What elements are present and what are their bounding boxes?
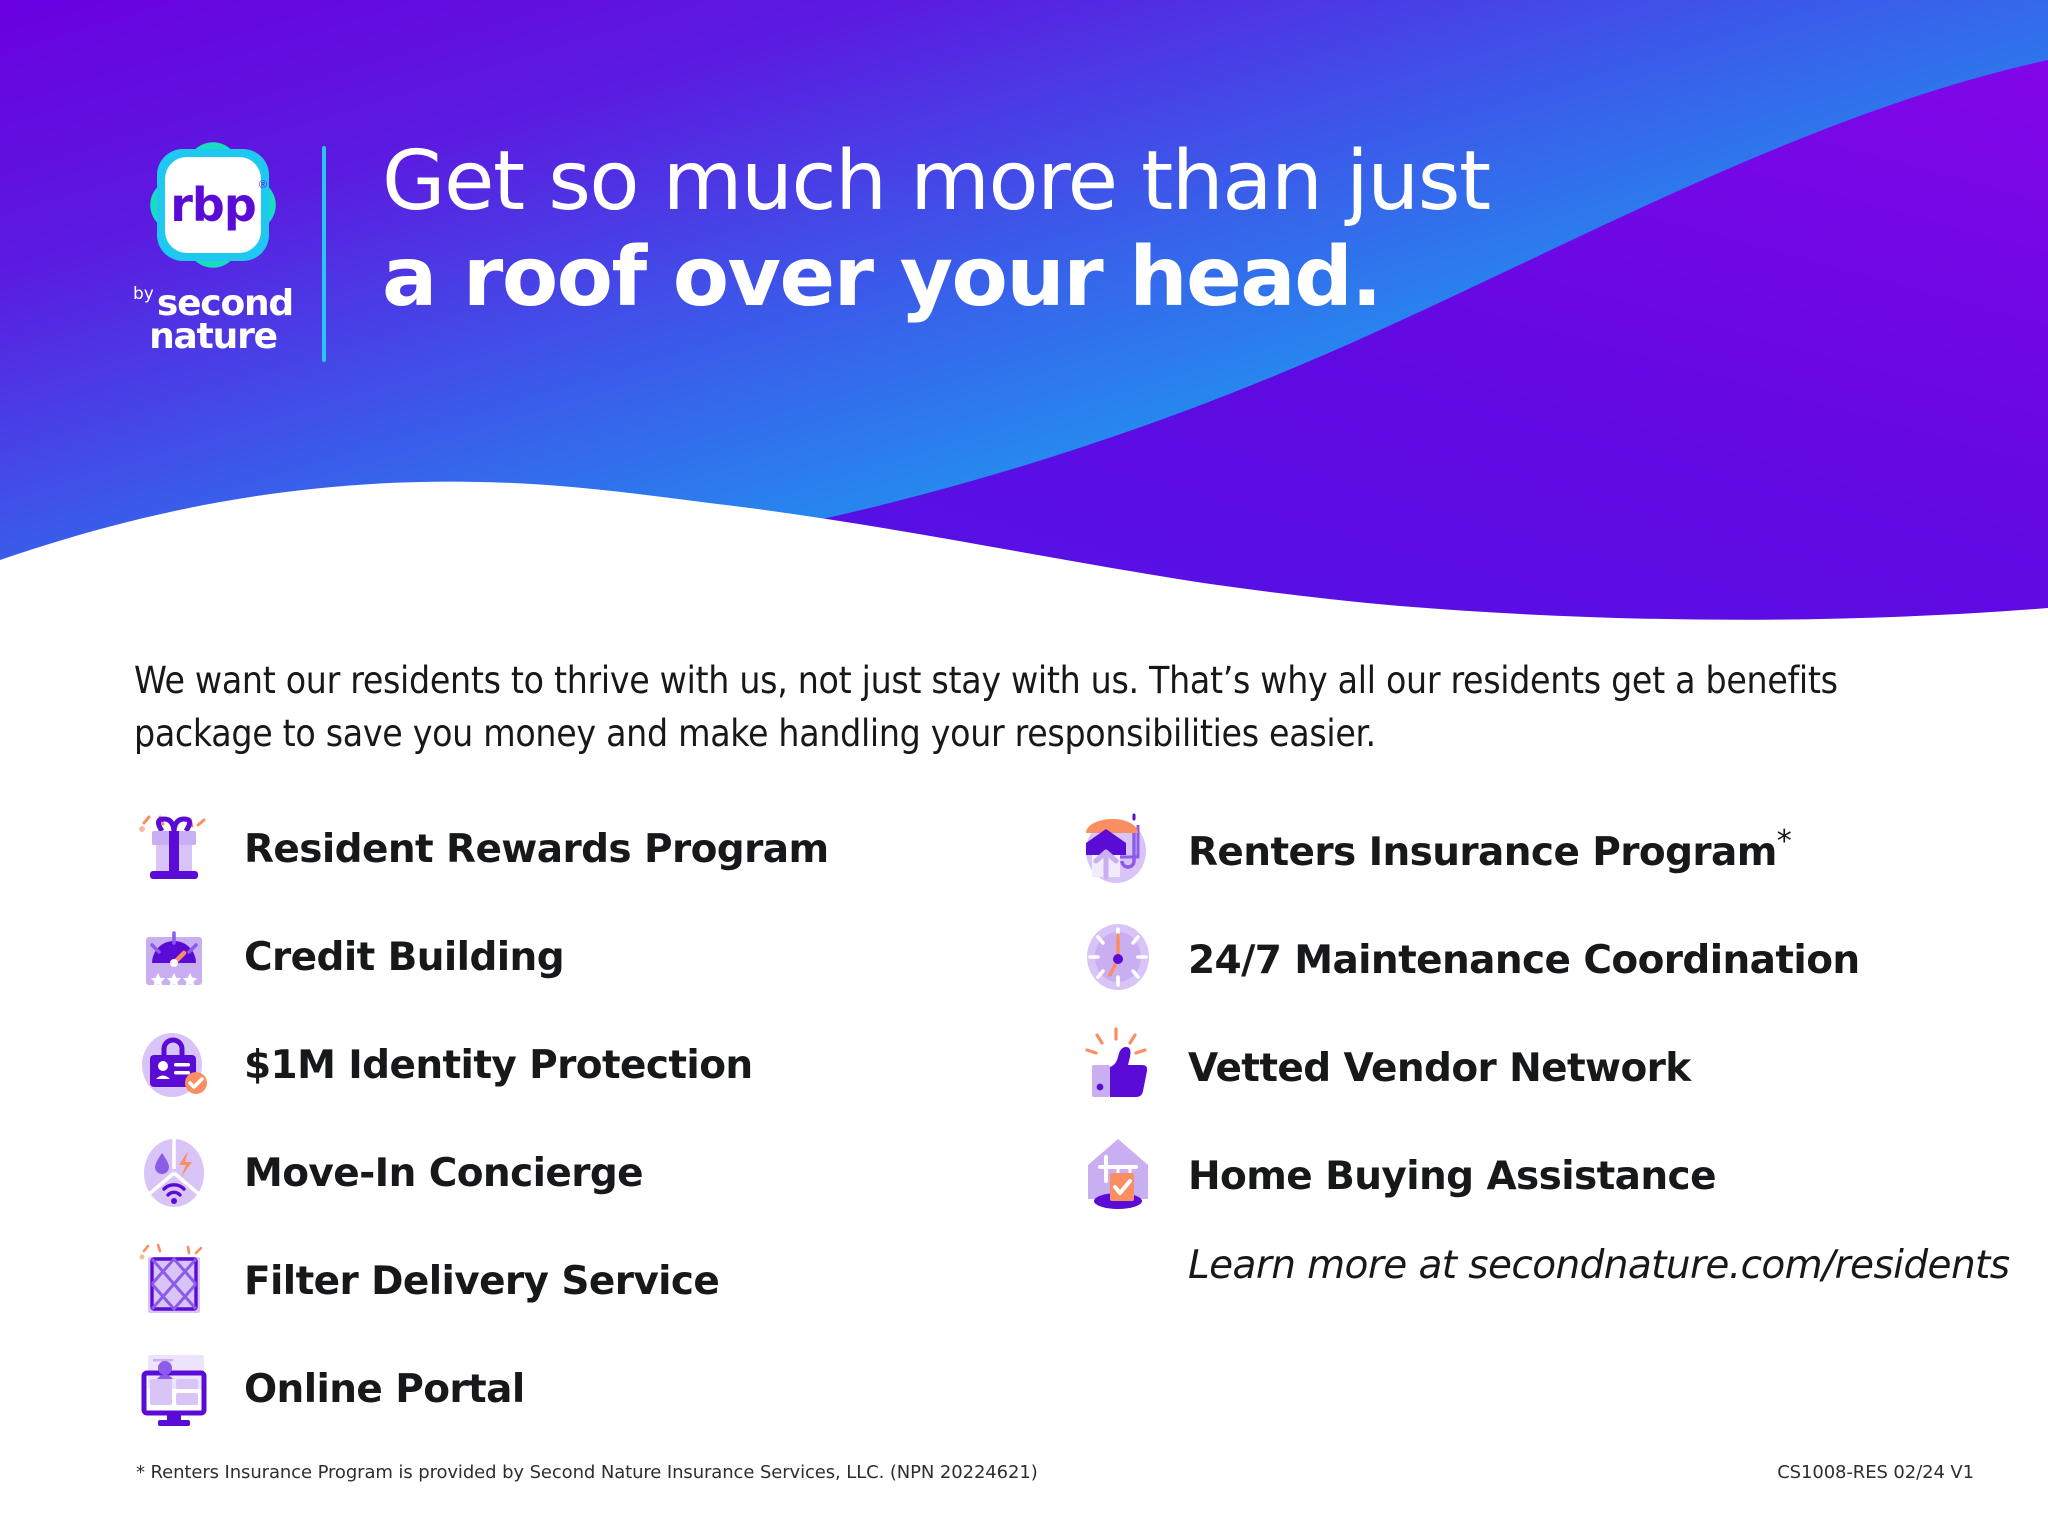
credit-gauge-icon: [134, 917, 214, 997]
benefit-label: Filter Delivery Service: [244, 1259, 719, 1304]
intro-paragraph: We want our residents to thrive with us,…: [134, 655, 1924, 760]
company-line2: nature: [128, 320, 298, 353]
benefit-label: Vetted Vendor Network: [1188, 1040, 1691, 1091]
footer-disclaimer: * Renters Insurance Program is provided …: [136, 1462, 1038, 1483]
house-checklist-icon: [1078, 1133, 1158, 1213]
utilities-setup-icon: [134, 1133, 214, 1213]
benefit-label-text: Renters Insurance Program: [1188, 830, 1777, 875]
hero-banner: rbp ® bysecond nature Get so much more t…: [0, 0, 2048, 620]
benefit-item-vetted-vendor: Vetted Vendor Network: [1078, 1011, 1978, 1119]
logo-divider: [322, 146, 326, 362]
flyer-page: rbp ® bysecond nature Get so much more t…: [0, 0, 2048, 1536]
benefit-label: $1M Identity Protection: [244, 1043, 753, 1088]
benefit-label: Credit Building: [244, 935, 564, 980]
headline-line2: a roof over your head.: [382, 236, 1582, 320]
benefit-item-home-buying: Home Buying Assistance: [1078, 1119, 1978, 1227]
benefit-item-filter-delivery: Filter Delivery Service: [134, 1227, 1014, 1335]
benefits-column-left: Resident Rewards Program: [134, 795, 1014, 1443]
benefit-label: Online Portal: [244, 1367, 525, 1412]
hero-headline: Get so much more than just a roof over y…: [382, 140, 1582, 319]
benefits-column-right: Renters Insurance Program*: [1078, 795, 1978, 1288]
benefit-item-online-portal: Online Portal: [134, 1335, 1014, 1443]
id-badge-lock-icon: [134, 1025, 214, 1105]
benefit-label: Home Buying Assistance: [1188, 1148, 1716, 1199]
benefit-item-renters-insurance: Renters Insurance Program*: [1078, 795, 1978, 903]
rbp-wordmark: rbp: [143, 135, 283, 275]
benefit-item-maintenance-coordination: 24/7 Maintenance Coordination: [1078, 903, 1978, 1011]
benefit-label-text: Home Buying Assistance: [1188, 1154, 1716, 1199]
secondnature-wordmark: bysecond nature: [128, 287, 298, 353]
footer-doc-code: CS1008-RES 02/24 V1: [1777, 1462, 1974, 1483]
benefit-item-identity-protection: $1M Identity Protection: [134, 1011, 1014, 1119]
benefit-label-text: Vetted Vendor Network: [1188, 1046, 1691, 1091]
benefit-item-credit-building: Credit Building: [134, 903, 1014, 1011]
headline-line1: Get so much more than just: [382, 140, 1582, 224]
thumbs-up-icon: [1078, 1025, 1158, 1105]
benefit-label: Move-In Concierge: [244, 1151, 643, 1196]
benefit-item-resident-rewards: Resident Rewards Program: [134, 795, 1014, 903]
air-filter-icon: [134, 1241, 214, 1321]
benefit-item-move-in-concierge: Move-In Concierge: [134, 1119, 1014, 1227]
clock-icon: [1078, 917, 1158, 997]
by-label: by: [133, 284, 154, 304]
umbrella-home-icon: [1078, 809, 1158, 889]
rbp-badge-icon: rbp ®: [143, 135, 283, 275]
benefit-label-text: 24/7 Maintenance Coordination: [1188, 938, 1860, 983]
rbp-logo: rbp ® bysecond nature: [128, 135, 298, 360]
footnote-marker: *: [1777, 824, 1791, 859]
benefit-label: Resident Rewards Program: [244, 827, 829, 872]
learn-more-link[interactable]: Learn more at secondnature.com/residents: [1188, 1243, 1978, 1288]
gift-icon: [134, 809, 214, 889]
benefit-label: Renters Insurance Program*: [1188, 824, 1791, 875]
registered-mark: ®: [259, 179, 267, 191]
benefit-label: 24/7 Maintenance Coordination: [1188, 932, 1860, 983]
desktop-portal-icon: [134, 1349, 214, 1429]
